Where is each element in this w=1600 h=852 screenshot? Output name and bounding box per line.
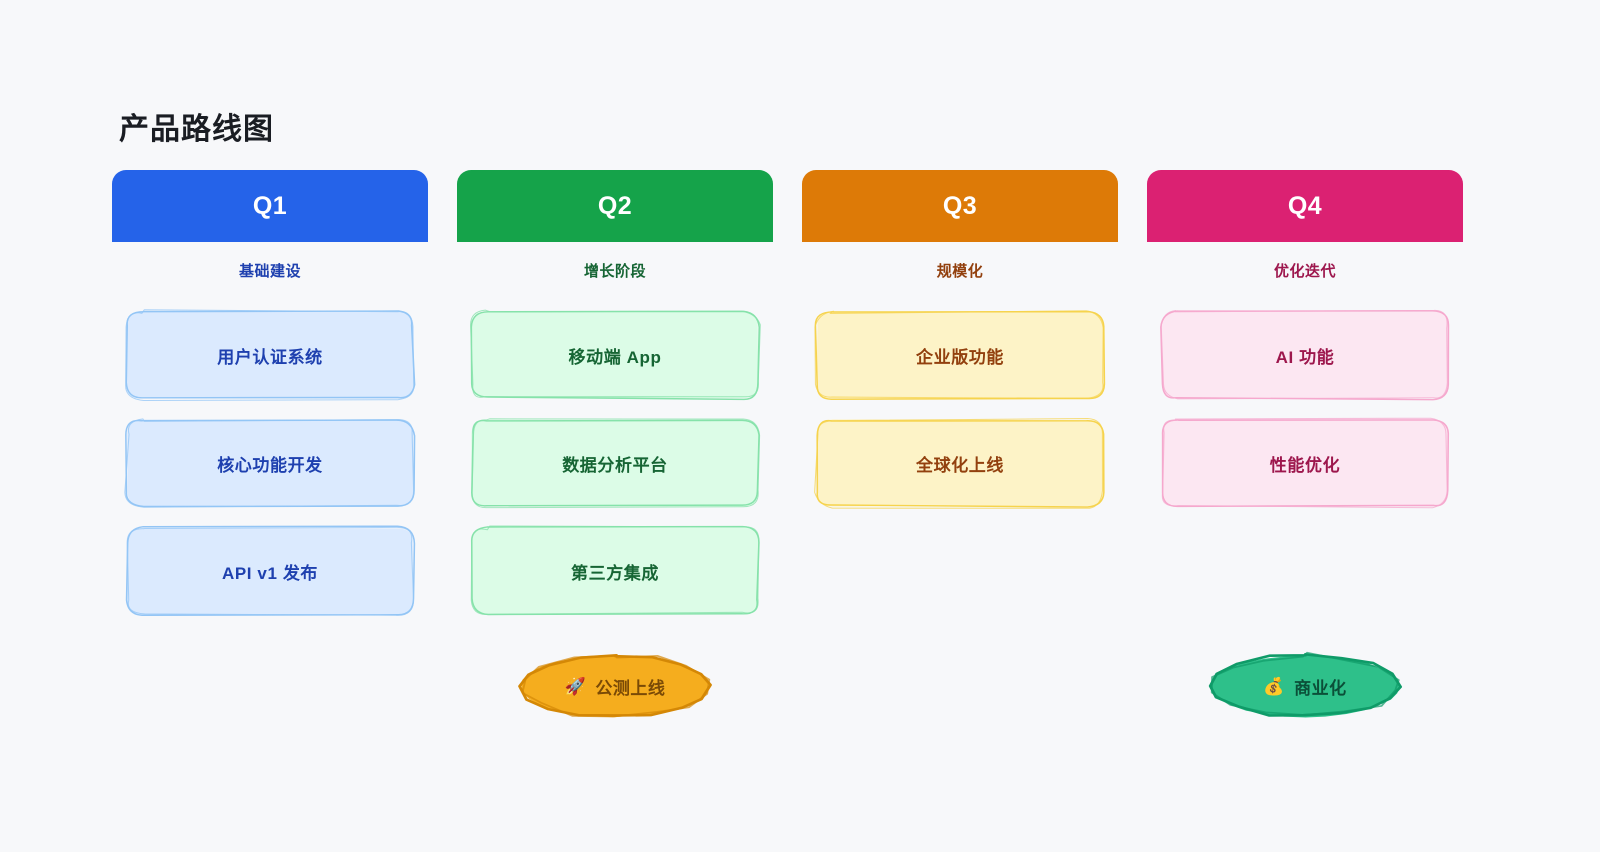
card-list: AI 功能性能优化 [1158,308,1452,510]
quarter-label: Q1 [253,192,287,221]
roadmap-card[interactable]: 数据分析平台 [468,416,762,510]
card-label: AI 功能 [1276,343,1335,368]
roadmap-card[interactable]: 全球化上线 [813,416,1107,510]
quarter-header-q1[interactable]: Q1 [112,170,428,242]
quarter-header-q4[interactable]: Q4 [1147,170,1463,242]
page-title: 产品路线图 [119,104,274,148]
quarter-column-q3: Q3规模化企业版功能全球化上线 [802,170,1118,618]
milestone-label: 商业化 [1294,674,1347,699]
roadmap-card[interactable]: 企业版功能 [813,308,1107,402]
milestone-content: 🚀公测上线 [565,674,666,699]
card-label: 第三方集成 [571,559,659,584]
quarter-subtitle: 规模化 [937,260,984,281]
quarter-label: Q2 [598,192,632,221]
card-label: 用户认证系统 [217,343,323,368]
milestone-label: 公测上线 [595,674,665,699]
roadmap-card[interactable]: 用户认证系统 [123,308,417,402]
quarter-subtitle: 基础建设 [239,260,301,281]
quarter-column-q4: Q4优化迭代AI 功能性能优化 [1147,170,1463,618]
milestone-content: 💰商业化 [1263,674,1346,699]
quarter-label: Q3 [943,192,977,221]
money-bag-icon: 💰 [1263,678,1285,695]
card-list: 用户认证系统核心功能开发API v1 发布 [123,308,417,618]
roadmap-card[interactable]: 第三方集成 [468,524,762,618]
roadmap-card[interactable]: 性能优化 [1158,416,1452,510]
quarter-label: Q4 [1288,192,1322,221]
card-label: 数据分析平台 [562,451,668,476]
card-label: 核心功能开发 [217,451,323,476]
roadmap-card[interactable]: AI 功能 [1158,308,1452,402]
roadmap-canvas: 产品路线图 Q1基础建设用户认证系统核心功能开发API v1 发布Q2增长阶段移… [0,0,1600,852]
quarter-header-q2[interactable]: Q2 [457,170,773,242]
quarter-column-q2: Q2增长阶段移动端 App数据分析平台第三方集成 [457,170,773,618]
quarter-subtitle: 增长阶段 [584,260,646,281]
card-label: 移动端 App [569,343,662,368]
roadmap-card[interactable]: 移动端 App [468,308,762,402]
quarter-column-q1: Q1基础建设用户认证系统核心功能开发API v1 发布 [112,170,428,618]
roadmap-card[interactable]: 核心功能开发 [123,416,417,510]
card-label: 性能优化 [1270,451,1340,476]
card-label: 全球化上线 [916,451,1004,476]
quarter-subtitle: 优化迭代 [1274,260,1336,281]
milestone-2[interactable]: 💰商业化 [1205,650,1405,722]
card-list: 移动端 App数据分析平台第三方集成 [468,308,762,618]
milestone-1[interactable]: 🚀公测上线 [515,650,715,722]
card-list: 企业版功能全球化上线 [813,308,1107,510]
card-label: API v1 发布 [222,559,318,584]
quarter-columns: Q1基础建设用户认证系统核心功能开发API v1 发布Q2增长阶段移动端 App… [112,170,1484,618]
quarter-header-q3[interactable]: Q3 [802,170,1118,242]
roadmap-card[interactable]: API v1 发布 [123,524,417,618]
rocket-icon: 🚀 [565,678,587,695]
card-label: 企业版功能 [916,343,1004,368]
